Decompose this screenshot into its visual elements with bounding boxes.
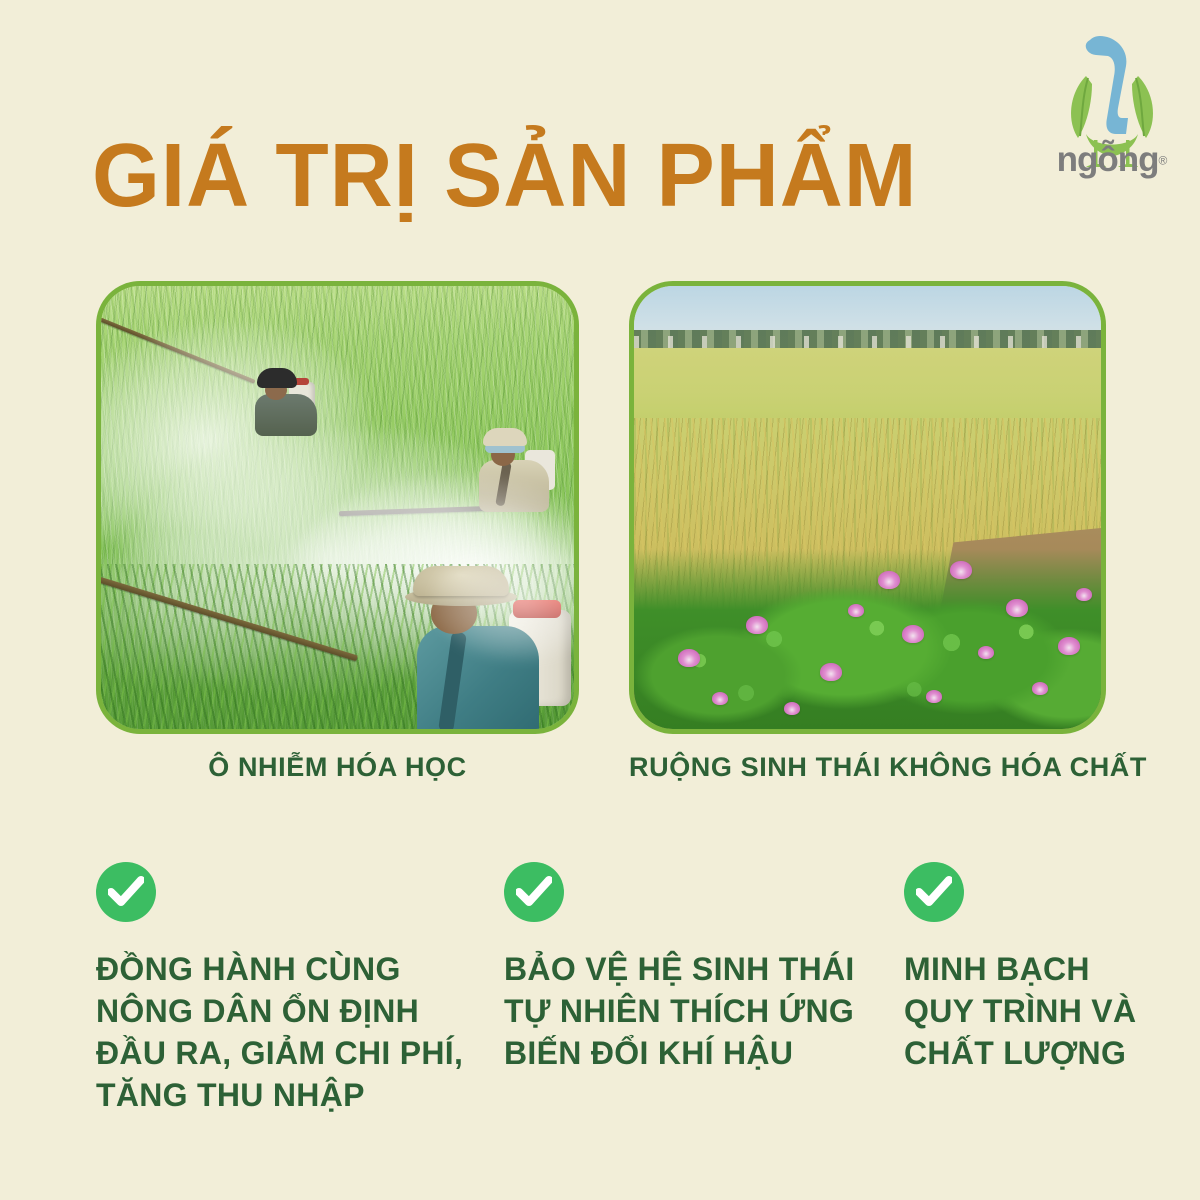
morning-glory-flower — [848, 604, 864, 617]
morning-glory-flower — [878, 571, 900, 589]
benefits-row: ĐỒNG HÀNH CÙNG NÔNG DÂN ỔN ĐỊNH ĐẦU RA, … — [0, 862, 1200, 1162]
morning-glory-flower — [926, 690, 942, 703]
goose-neck — [1086, 36, 1128, 134]
ecological-rice-field-photo — [629, 281, 1106, 734]
brand-logo: ngỗng® — [1052, 22, 1172, 187]
logo-wordmark: ngỗng — [1057, 140, 1159, 179]
caption-chemical-pollution: Ô NHIỄM HÓA HỌC — [96, 752, 579, 783]
morning-glory-flower — [978, 646, 994, 659]
benefit-text-2: BẢO VỆ HỆ SINH THÁI TỰ NHIÊN THÍCH ỨNG B… — [504, 948, 904, 1074]
morning-glory-flower — [902, 625, 924, 643]
morning-glory-flower — [1006, 599, 1028, 617]
benefit-item-2: BẢO VỆ HỆ SINH THÁI TỰ NHIÊN THÍCH ỨNG B… — [504, 862, 904, 1074]
eco-field-scene — [634, 286, 1101, 729]
farmer-hat — [257, 368, 297, 388]
registered-mark-icon: ® — [1159, 154, 1168, 168]
morning-glory-flower — [1076, 588, 1092, 601]
morning-glory-flower — [712, 692, 728, 705]
morning-glory-flower — [784, 702, 800, 715]
morning-glory-flower — [1032, 682, 1048, 695]
farmer-body — [255, 394, 317, 436]
morning-glory-flower — [678, 649, 700, 667]
far-paddy-field — [634, 348, 1101, 428]
caption-ecological-field: RUỘNG SINH THÁI KHÔNG HÓA CHẤT — [629, 752, 1106, 783]
benefit-item-3: MINH BẠCH QUY TRÌNH VÀ CHẤT LƯỢNG — [904, 862, 1184, 1074]
photo-comparison-row — [0, 281, 1200, 736]
farmer-hat — [483, 428, 527, 446]
morning-glory-flower — [820, 663, 842, 681]
morning-glory-flower — [746, 616, 768, 634]
morning-glory-bush — [634, 549, 1101, 729]
benefit-text-3: MINH BẠCH QUY TRÌNH VÀ CHẤT LƯỢNG — [904, 948, 1184, 1074]
check-circle-icon — [96, 862, 156, 922]
morning-glory-flower — [1058, 637, 1080, 655]
farmer-far — [249, 368, 341, 440]
check-circle-icon — [504, 862, 564, 922]
check-circle-icon — [904, 862, 964, 922]
benefit-text-1: ĐỒNG HÀNH CÙNG NÔNG DÂN ỔN ĐỊNH ĐẦU RA, … — [96, 948, 496, 1116]
morning-glory-flower — [950, 561, 972, 579]
distant-houses — [634, 336, 1101, 348]
chemical-pollution-photo — [96, 281, 579, 734]
page-title: GIÁ TRỊ SẢN PHẨM — [92, 128, 1062, 224]
benefit-item-1: ĐỒNG HÀNH CÙNG NÔNG DÂN ỔN ĐỊNH ĐẦU RA, … — [96, 862, 496, 1116]
